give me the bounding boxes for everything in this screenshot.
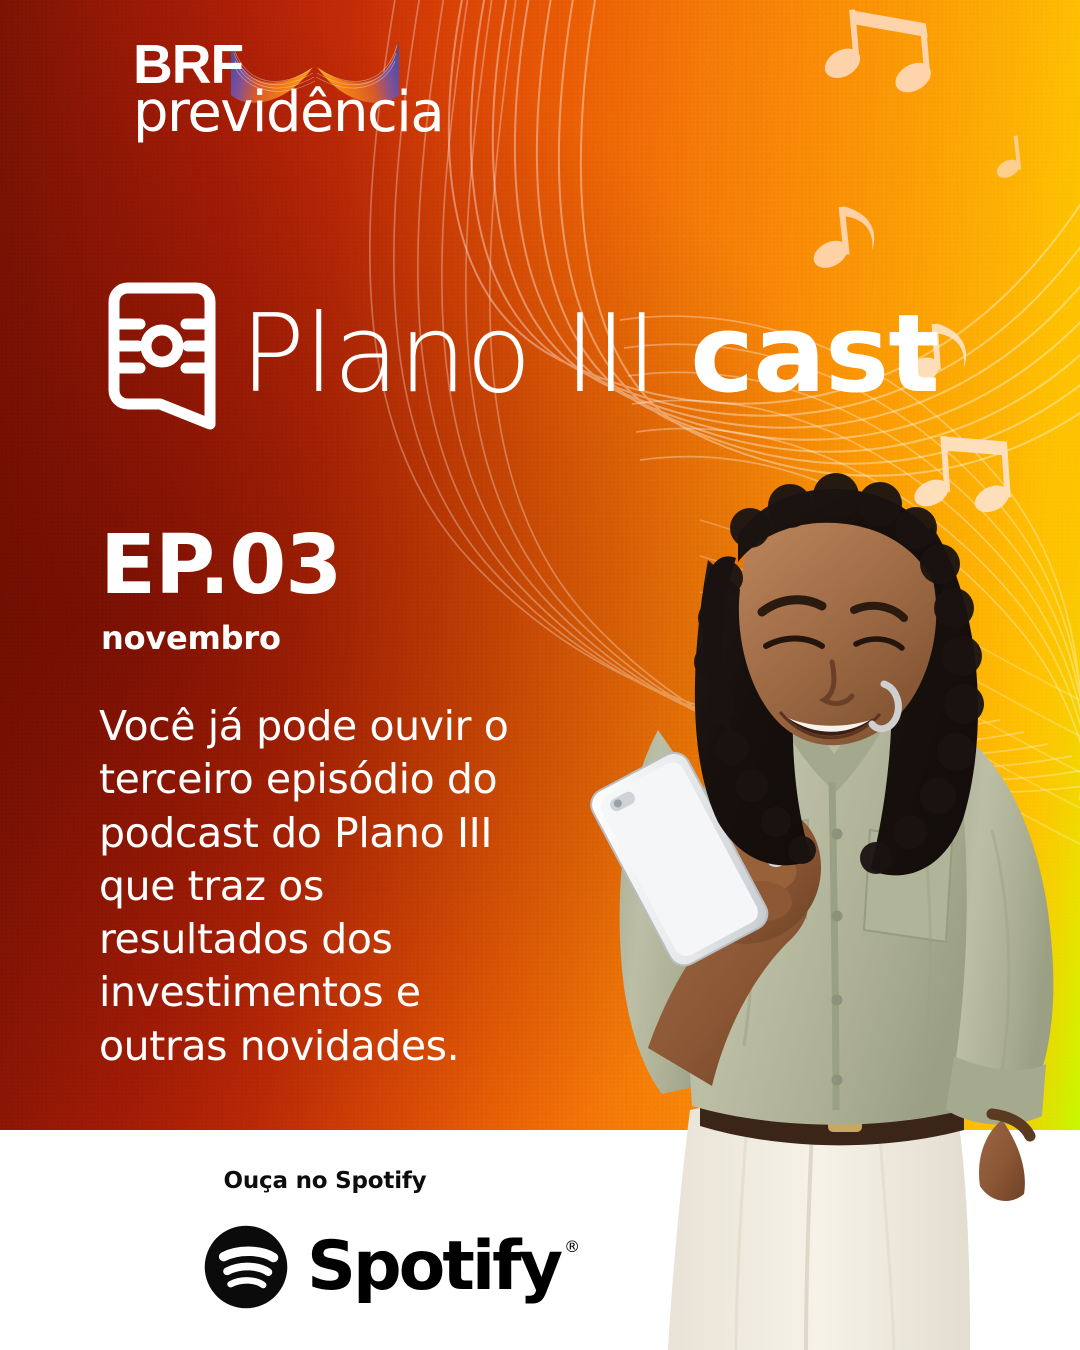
microphone-speech-bubble-icon bbox=[98, 276, 226, 441]
listen-on-spotify-label: Ouça no Spotify bbox=[0, 1168, 650, 1194]
beamed-eighth-notes-icon-2 bbox=[906, 431, 1014, 522]
spotify-logo-icon[interactable] bbox=[203, 1224, 289, 1310]
episode-month: novembro bbox=[101, 622, 281, 654]
podcast-title: Plano III cast bbox=[240, 301, 939, 409]
eighth-note-icon bbox=[805, 204, 878, 274]
registered-trademark-mark: ® bbox=[564, 1239, 580, 1255]
spotify-logo-lockup[interactable]: Spotify ® bbox=[203, 1224, 560, 1310]
podcast-promo-poster: BRF previdência Plano III cast EP.03 nov… bbox=[0, 0, 1080, 1350]
podcast-title-bold: cast bbox=[690, 292, 939, 417]
beamed-eighth-notes-icon bbox=[813, 0, 938, 109]
episode-number: EP.03 bbox=[100, 525, 341, 607]
spotify-wordmark: Spotify bbox=[307, 1227, 560, 1306]
eighth-note-small-icon bbox=[991, 135, 1024, 182]
brf-previdencia-logo: BRF previdência bbox=[133, 37, 398, 142]
podcast-title-light: Plano III bbox=[240, 292, 657, 417]
brf-logo-line2: previdência bbox=[133, 85, 443, 141]
episode-description: Você já pode ouvir o terceiro episódio d… bbox=[99, 700, 539, 1073]
spotify-wordmark-wrapper: Spotify ® bbox=[307, 1233, 560, 1301]
footer-spotify-cta: Ouça no Spotify Spotify ® bbox=[0, 1130, 1080, 1350]
podcast-title-row: Plano III cast bbox=[98, 276, 939, 441]
